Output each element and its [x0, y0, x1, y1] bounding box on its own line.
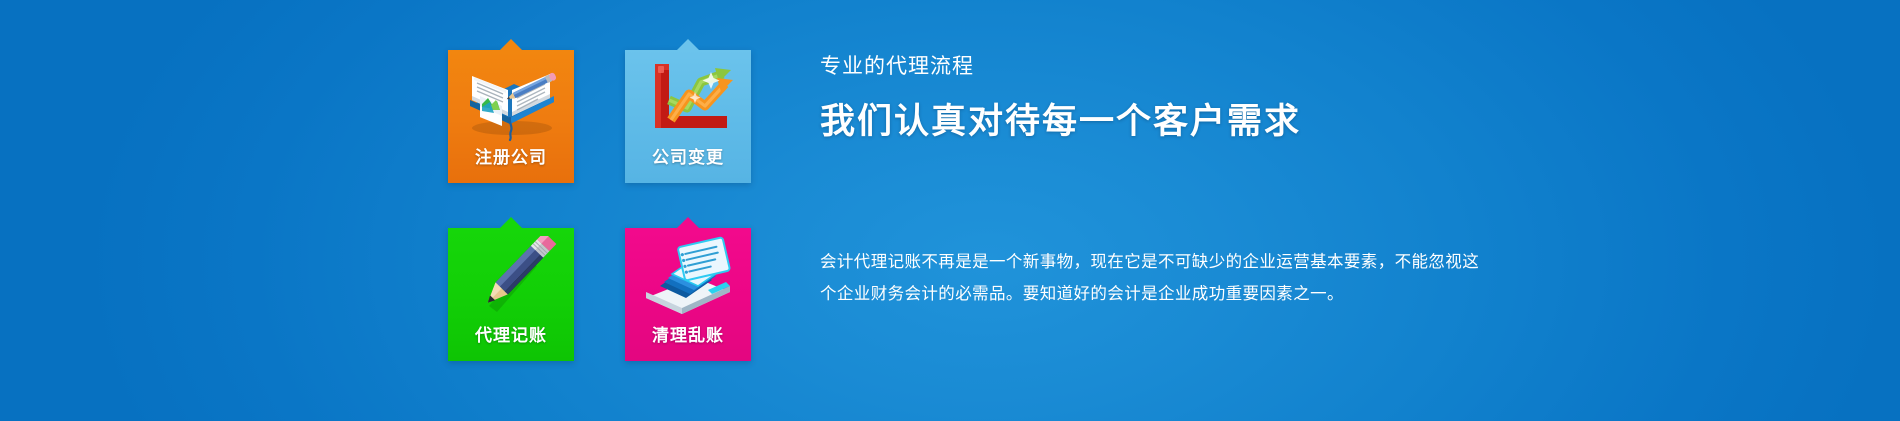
- pencil-icon: [448, 236, 574, 322]
- description-paragraph: 会计代理记账不再是是一个新事物，现在它是不可缺少的企业运营基本要素，不能忽视这个…: [820, 246, 1480, 310]
- service-tile-register-company[interactable]: 注册公司: [448, 50, 574, 183]
- tile-label: 公司变更: [625, 150, 751, 167]
- tile-notch: [677, 39, 699, 50]
- service-tile-agency-bookkeeping[interactable]: 代理记账: [448, 228, 574, 361]
- service-tile-company-change[interactable]: 公司变更: [625, 50, 751, 183]
- open-book-with-pencil-icon: [448, 58, 574, 144]
- headline-block: 专业的代理流程 我们认真对待每一个客户需求: [820, 54, 1520, 143]
- tile-label: 代理记账: [448, 328, 574, 345]
- eyebrow-text: 专业的代理流程: [820, 54, 1520, 79]
- tile-notch: [677, 217, 699, 228]
- service-tile-grid: 注册公司: [448, 38, 760, 362]
- tile-label: 清理乱账: [625, 328, 751, 345]
- service-tile-account-cleanup[interactable]: 清理乱账: [625, 228, 751, 361]
- promo-banner: 注册公司: [0, 0, 1900, 421]
- document-stack-icon: [625, 236, 751, 322]
- page-title: 我们认真对待每一个客户需求: [820, 101, 1520, 143]
- growth-chart-arrows-icon: [625, 58, 751, 144]
- tile-notch: [500, 217, 522, 228]
- tile-label: 注册公司: [448, 150, 574, 167]
- tile-notch: [500, 39, 522, 50]
